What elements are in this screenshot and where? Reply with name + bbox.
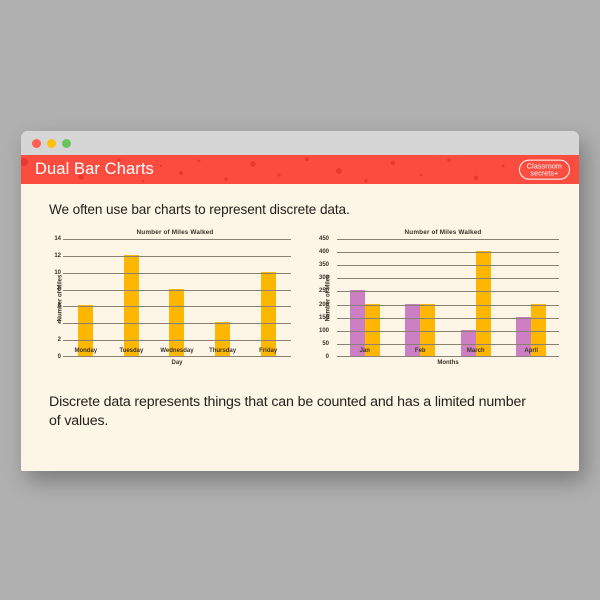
- chart-title: Number of Miles Walked: [55, 229, 295, 236]
- y-axis-tick: 50: [322, 341, 329, 347]
- gridline: [337, 331, 559, 332]
- gridline: [337, 252, 559, 253]
- close-button[interactable]: [32, 139, 41, 148]
- y-axis-tick: 2: [58, 337, 61, 343]
- bar: [169, 289, 184, 356]
- x-axis-tick: Feb: [393, 348, 449, 354]
- x-axis-tick-labels: JanFebMarchApril: [337, 348, 559, 354]
- plot-area: Number of Miles 14121086420: [37, 239, 295, 357]
- y-axis-tick: 100: [319, 328, 329, 334]
- maximize-button[interactable]: [62, 139, 71, 148]
- gridline: [337, 239, 559, 240]
- gridline: [337, 291, 559, 292]
- x-axis-tick: Wednesday: [154, 348, 200, 354]
- gridline: [63, 273, 291, 274]
- gridline: [337, 318, 559, 319]
- bar-group-container: [337, 239, 559, 356]
- outro-text: Discrete data represents things that can…: [49, 393, 537, 431]
- y-axis-ticks: 14121086420: [37, 239, 63, 357]
- gridline: [337, 344, 559, 345]
- y-axis-tick: 150: [319, 315, 329, 321]
- x-axis-tick-labels: MondayTuesdayWednesdayThursdayFriday: [63, 348, 291, 354]
- gridline: [337, 278, 559, 279]
- intro-text: We often use bar charts to represent dis…: [49, 202, 563, 217]
- y-axis-tick: 200: [319, 302, 329, 308]
- gridline: [63, 290, 291, 291]
- x-axis-tick: Jan: [337, 348, 393, 354]
- plot-canvas: [337, 239, 559, 357]
- x-axis-tick: Friday: [245, 348, 291, 354]
- y-axis-tick: 4: [58, 320, 61, 326]
- bar-group: [337, 239, 393, 356]
- bar: [350, 290, 365, 356]
- x-axis-tick: March: [448, 348, 504, 354]
- chart-miles-walked-by-day: Number of Miles Walked Number of Miles 1…: [37, 229, 295, 379]
- gridline: [63, 340, 291, 341]
- x-axis-tick: Tuesday: [109, 348, 155, 354]
- gridline: [63, 306, 291, 307]
- bar-group: [504, 239, 560, 356]
- plot-area: Number of Miles 450400350300250200150100…: [305, 239, 563, 357]
- x-axis-tick: April: [504, 348, 560, 354]
- logo-line-2: secrets+: [527, 170, 562, 177]
- x-axis-tick: Thursday: [200, 348, 246, 354]
- window-titlebar: [21, 131, 579, 155]
- app-window: Dual Bar Charts Classroom secrets+ We of…: [21, 131, 579, 471]
- y-axis-tick: 400: [319, 249, 329, 255]
- gridline: [63, 323, 291, 324]
- slide-banner: Dual Bar Charts Classroom secrets+: [21, 155, 579, 184]
- gridline: [63, 239, 291, 240]
- y-axis-tick: 350: [319, 262, 329, 268]
- x-axis-tick: Monday: [63, 348, 109, 354]
- minimize-button[interactable]: [47, 139, 56, 148]
- y-axis-ticks: 450400350300250200150100500: [305, 239, 331, 357]
- gridline: [337, 305, 559, 306]
- x-axis-label: Day: [63, 360, 291, 366]
- y-axis-tick: 0: [58, 354, 61, 360]
- bar-group: [448, 239, 504, 356]
- y-axis-tick: 6: [58, 303, 61, 309]
- charts-row: Number of Miles Walked Number of Miles 1…: [37, 229, 563, 379]
- y-axis-tick: 8: [58, 287, 61, 293]
- y-axis-tick: 250: [319, 288, 329, 294]
- y-axis-tick: 300: [319, 275, 329, 281]
- y-axis-tick: 12: [54, 253, 61, 259]
- x-axis-label: Months: [337, 360, 559, 366]
- slide-body: We often use bar charts to represent dis…: [21, 202, 579, 471]
- chart-miles-walked-by-month: Number of Miles Walked Number of Miles 4…: [305, 229, 563, 379]
- page-title: Dual Bar Charts: [35, 160, 154, 179]
- gridline: [337, 265, 559, 266]
- gridline: [63, 256, 291, 257]
- y-axis-tick: 450: [319, 236, 329, 242]
- y-axis-tick: 0: [326, 354, 329, 360]
- chart-title: Number of Miles Walked: [323, 229, 563, 236]
- y-axis-tick: 10: [54, 270, 61, 276]
- plot-canvas: [63, 239, 291, 357]
- bar: [261, 272, 276, 356]
- classroom-secrets-logo: Classroom secrets+: [519, 159, 570, 180]
- y-axis-tick: 14: [54, 236, 61, 242]
- bar-group: [393, 239, 449, 356]
